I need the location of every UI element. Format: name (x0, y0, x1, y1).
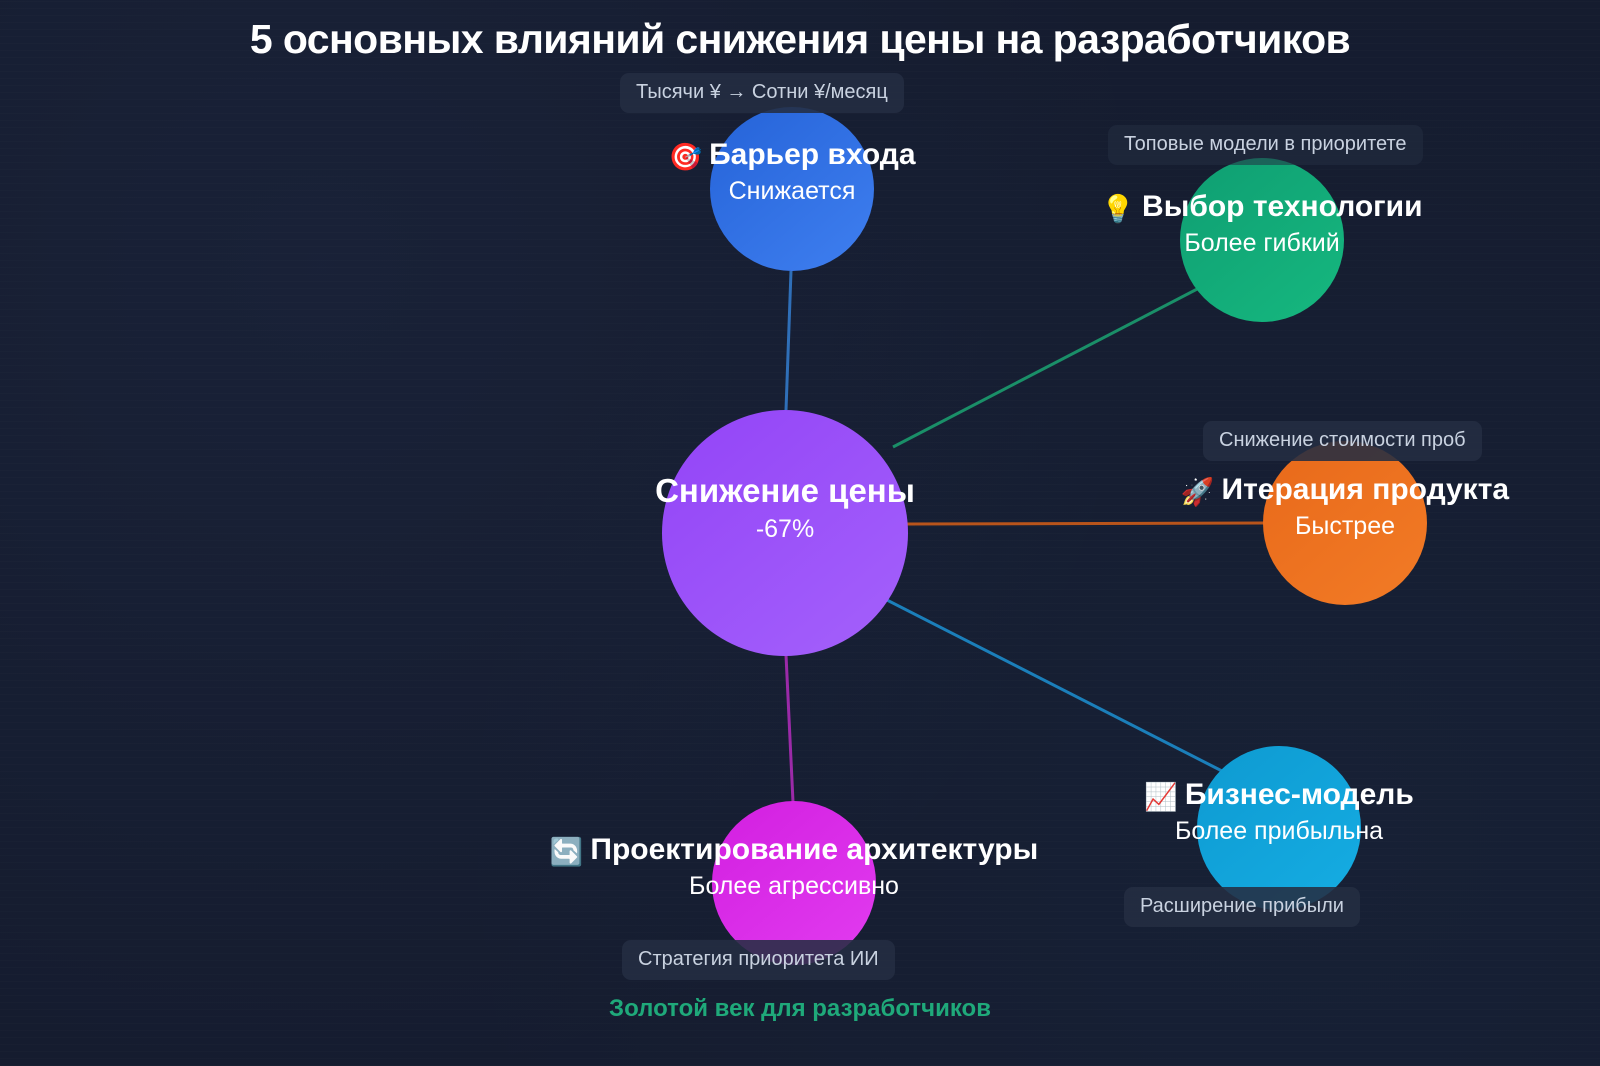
edge-center-to-entry-barrier (786, 271, 791, 410)
footer-note: Золотой век для разработчиков (0, 995, 1600, 1023)
edge-center-to-tech-choice (893, 286, 1203, 447)
node-circle-product-iteration[interactable] (1263, 441, 1427, 605)
refresh-icon: 🔄 (550, 837, 584, 867)
diagram-canvas: 5 основных влияний снижения цены на разр… (0, 0, 1600, 1066)
lightbulb-icon: 💡 (1101, 194, 1135, 224)
badge-architecture-design: Стратегия приоритета ИИ (622, 940, 895, 980)
node-circle-business-model[interactable] (1197, 746, 1361, 910)
node-circle-center[interactable] (662, 410, 908, 656)
edge-center-to-business-model (885, 599, 1222, 771)
edge-center-to-architecture-design (786, 655, 793, 802)
badge-tech-choice: Топовые модели в приоритете (1108, 125, 1423, 165)
badge-product-iteration: Снижение стоимости проб (1203, 421, 1482, 461)
target-icon: 🎯 (668, 142, 702, 172)
rocket-icon: 🚀 (1181, 477, 1215, 507)
page-title: 5 основных влияний снижения цены на разр… (0, 16, 1600, 63)
badge-business-model: Расширение прибыли (1124, 887, 1360, 927)
chart-increasing-icon: 📈 (1144, 782, 1178, 812)
edge-center-to-product-iteration (907, 523, 1264, 524)
node-circle-tech-choice[interactable] (1180, 158, 1344, 322)
badge-entry-barrier: Тысячи ¥ → Сотни ¥/месяц (620, 73, 904, 113)
node-circle-entry-barrier[interactable] (710, 107, 874, 271)
